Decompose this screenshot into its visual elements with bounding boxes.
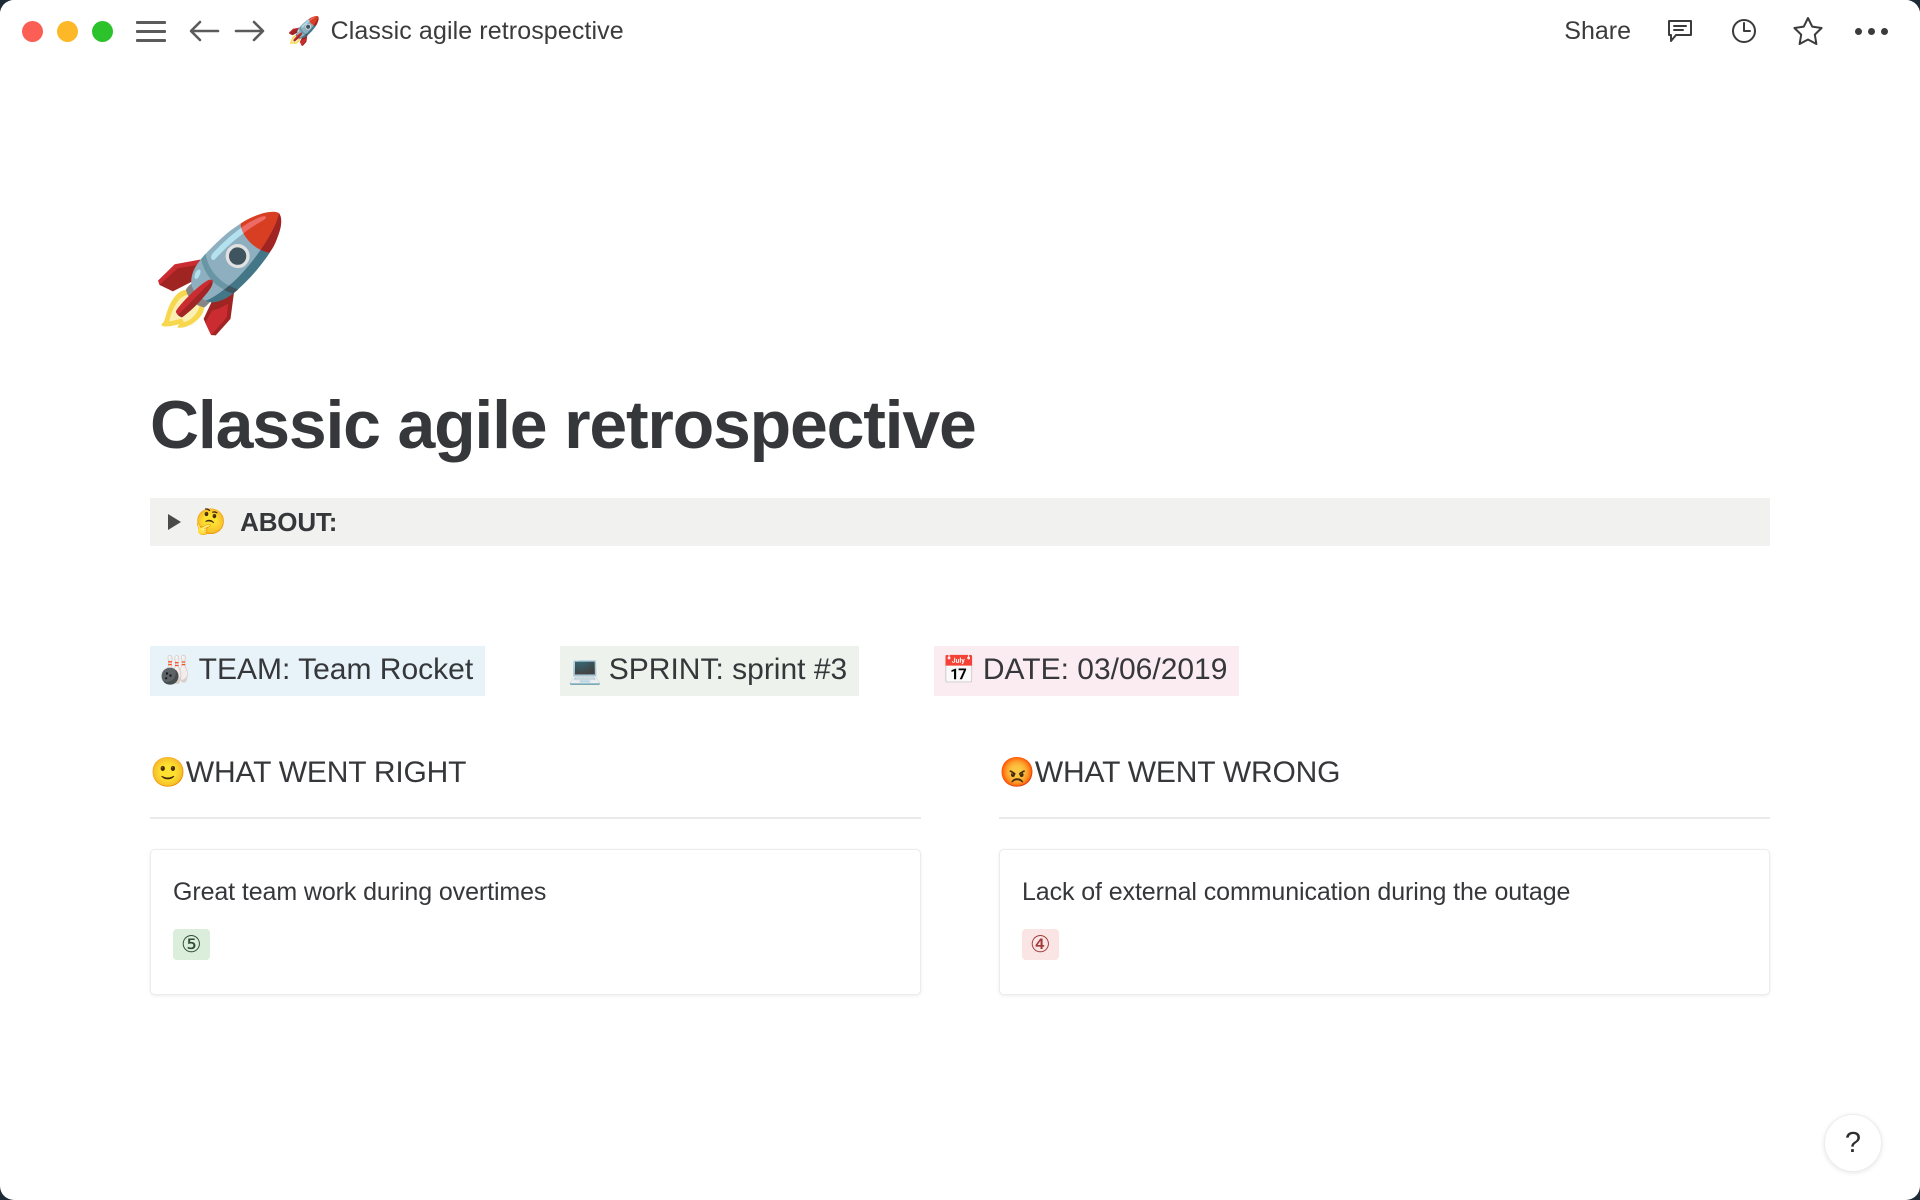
titlebar: 🚀 Classic agile retrospective Share: [0, 0, 1920, 62]
retro-card-vote-badge[interactable]: ④: [1022, 929, 1059, 960]
chevron-right-icon[interactable]: [168, 514, 181, 530]
meta-chip-date-text: DATE: 03/06/2019: [983, 653, 1228, 687]
titlebar-actions: Share: [1560, 12, 1890, 50]
ellipsis-dot: [1855, 28, 1862, 35]
page-title: Classic agile retrospective: [150, 386, 1770, 464]
arrow-right-icon[interactable]: [227, 11, 273, 51]
about-toggle-label: ABOUT:: [240, 507, 337, 538]
divider: [150, 817, 921, 819]
thinking-face-icon: 🤔: [195, 510, 226, 535]
column-went-right: 🙂 WHAT WENT RIGHT Great team work during…: [150, 756, 921, 995]
page-cover-emoji: 🚀: [150, 217, 1770, 329]
hamburger-icon[interactable]: [135, 17, 167, 45]
hamburger-line: [136, 39, 166, 42]
calendar-icon: 📅: [942, 657, 976, 684]
minimize-window-button[interactable]: [57, 21, 78, 42]
angry-face-icon: 😡: [999, 759, 1035, 788]
clock-icon[interactable]: [1725, 12, 1763, 50]
retro-card-text: Great team work during overtimes: [173, 878, 898, 907]
meta-chip-team[interactable]: 🎳 TEAM: Team Rocket: [150, 646, 485, 696]
share-button[interactable]: Share: [1560, 15, 1635, 48]
help-button[interactable]: ?: [1824, 1114, 1882, 1172]
bowling-icon: 🎳: [158, 657, 192, 684]
ellipsis-dot: [1868, 28, 1875, 35]
hamburger-line: [136, 30, 166, 33]
document-emoji: 🚀: [287, 18, 321, 45]
meta-row: 🎳 TEAM: Team Rocket 💻 SPRINT: sprint #3 …: [150, 646, 1770, 696]
column-went-right-title: WHAT WENT RIGHT: [186, 756, 466, 790]
laptop-icon: 💻: [568, 657, 602, 684]
retro-card[interactable]: Lack of external communication during th…: [999, 849, 1770, 995]
page-content: 🚀 Classic agile retrospective 🤔 ABOUT: 🎳…: [0, 217, 1920, 995]
arrow-left-icon[interactable]: [181, 11, 227, 51]
slightly-smiling-face-icon: 🙂: [150, 759, 186, 788]
column-went-wrong-title: WHAT WENT WRONG: [1035, 756, 1340, 790]
hamburger-line: [136, 21, 166, 24]
app-window: 🚀 Classic agile retrospective Share: [0, 0, 1920, 1200]
comment-icon[interactable]: [1661, 12, 1699, 50]
ellipsis-icon[interactable]: [1853, 20, 1890, 43]
retro-card[interactable]: Great team work during overtimes ⑤: [150, 849, 921, 995]
document-title: Classic agile retrospective: [331, 17, 624, 46]
retro-card-vote-badge[interactable]: ⑤: [173, 929, 210, 960]
meta-chip-sprint[interactable]: 💻 SPRINT: sprint #3: [560, 646, 859, 696]
column-went-wrong-heading: 😡 WHAT WENT WRONG: [999, 756, 1770, 790]
retro-card-text: Lack of external communication during th…: [1022, 878, 1747, 907]
meta-chip-team-text: TEAM: Team Rocket: [199, 653, 474, 687]
meta-chip-date[interactable]: 📅 DATE: 03/06/2019: [934, 646, 1239, 696]
retro-columns: 🙂 WHAT WENT RIGHT Great team work during…: [150, 756, 1770, 995]
meta-chip-sprint-text: SPRINT: sprint #3: [609, 653, 847, 687]
column-went-right-heading: 🙂 WHAT WENT RIGHT: [150, 756, 921, 790]
close-window-button[interactable]: [22, 21, 43, 42]
star-icon[interactable]: [1789, 12, 1827, 50]
traffic-lights: [22, 21, 113, 42]
column-went-wrong: 😡 WHAT WENT WRONG Lack of external commu…: [999, 756, 1770, 995]
maximize-window-button[interactable]: [92, 21, 113, 42]
divider: [999, 817, 1770, 819]
about-toggle-block[interactable]: 🤔 ABOUT:: [150, 498, 1770, 546]
ellipsis-dot: [1881, 28, 1888, 35]
